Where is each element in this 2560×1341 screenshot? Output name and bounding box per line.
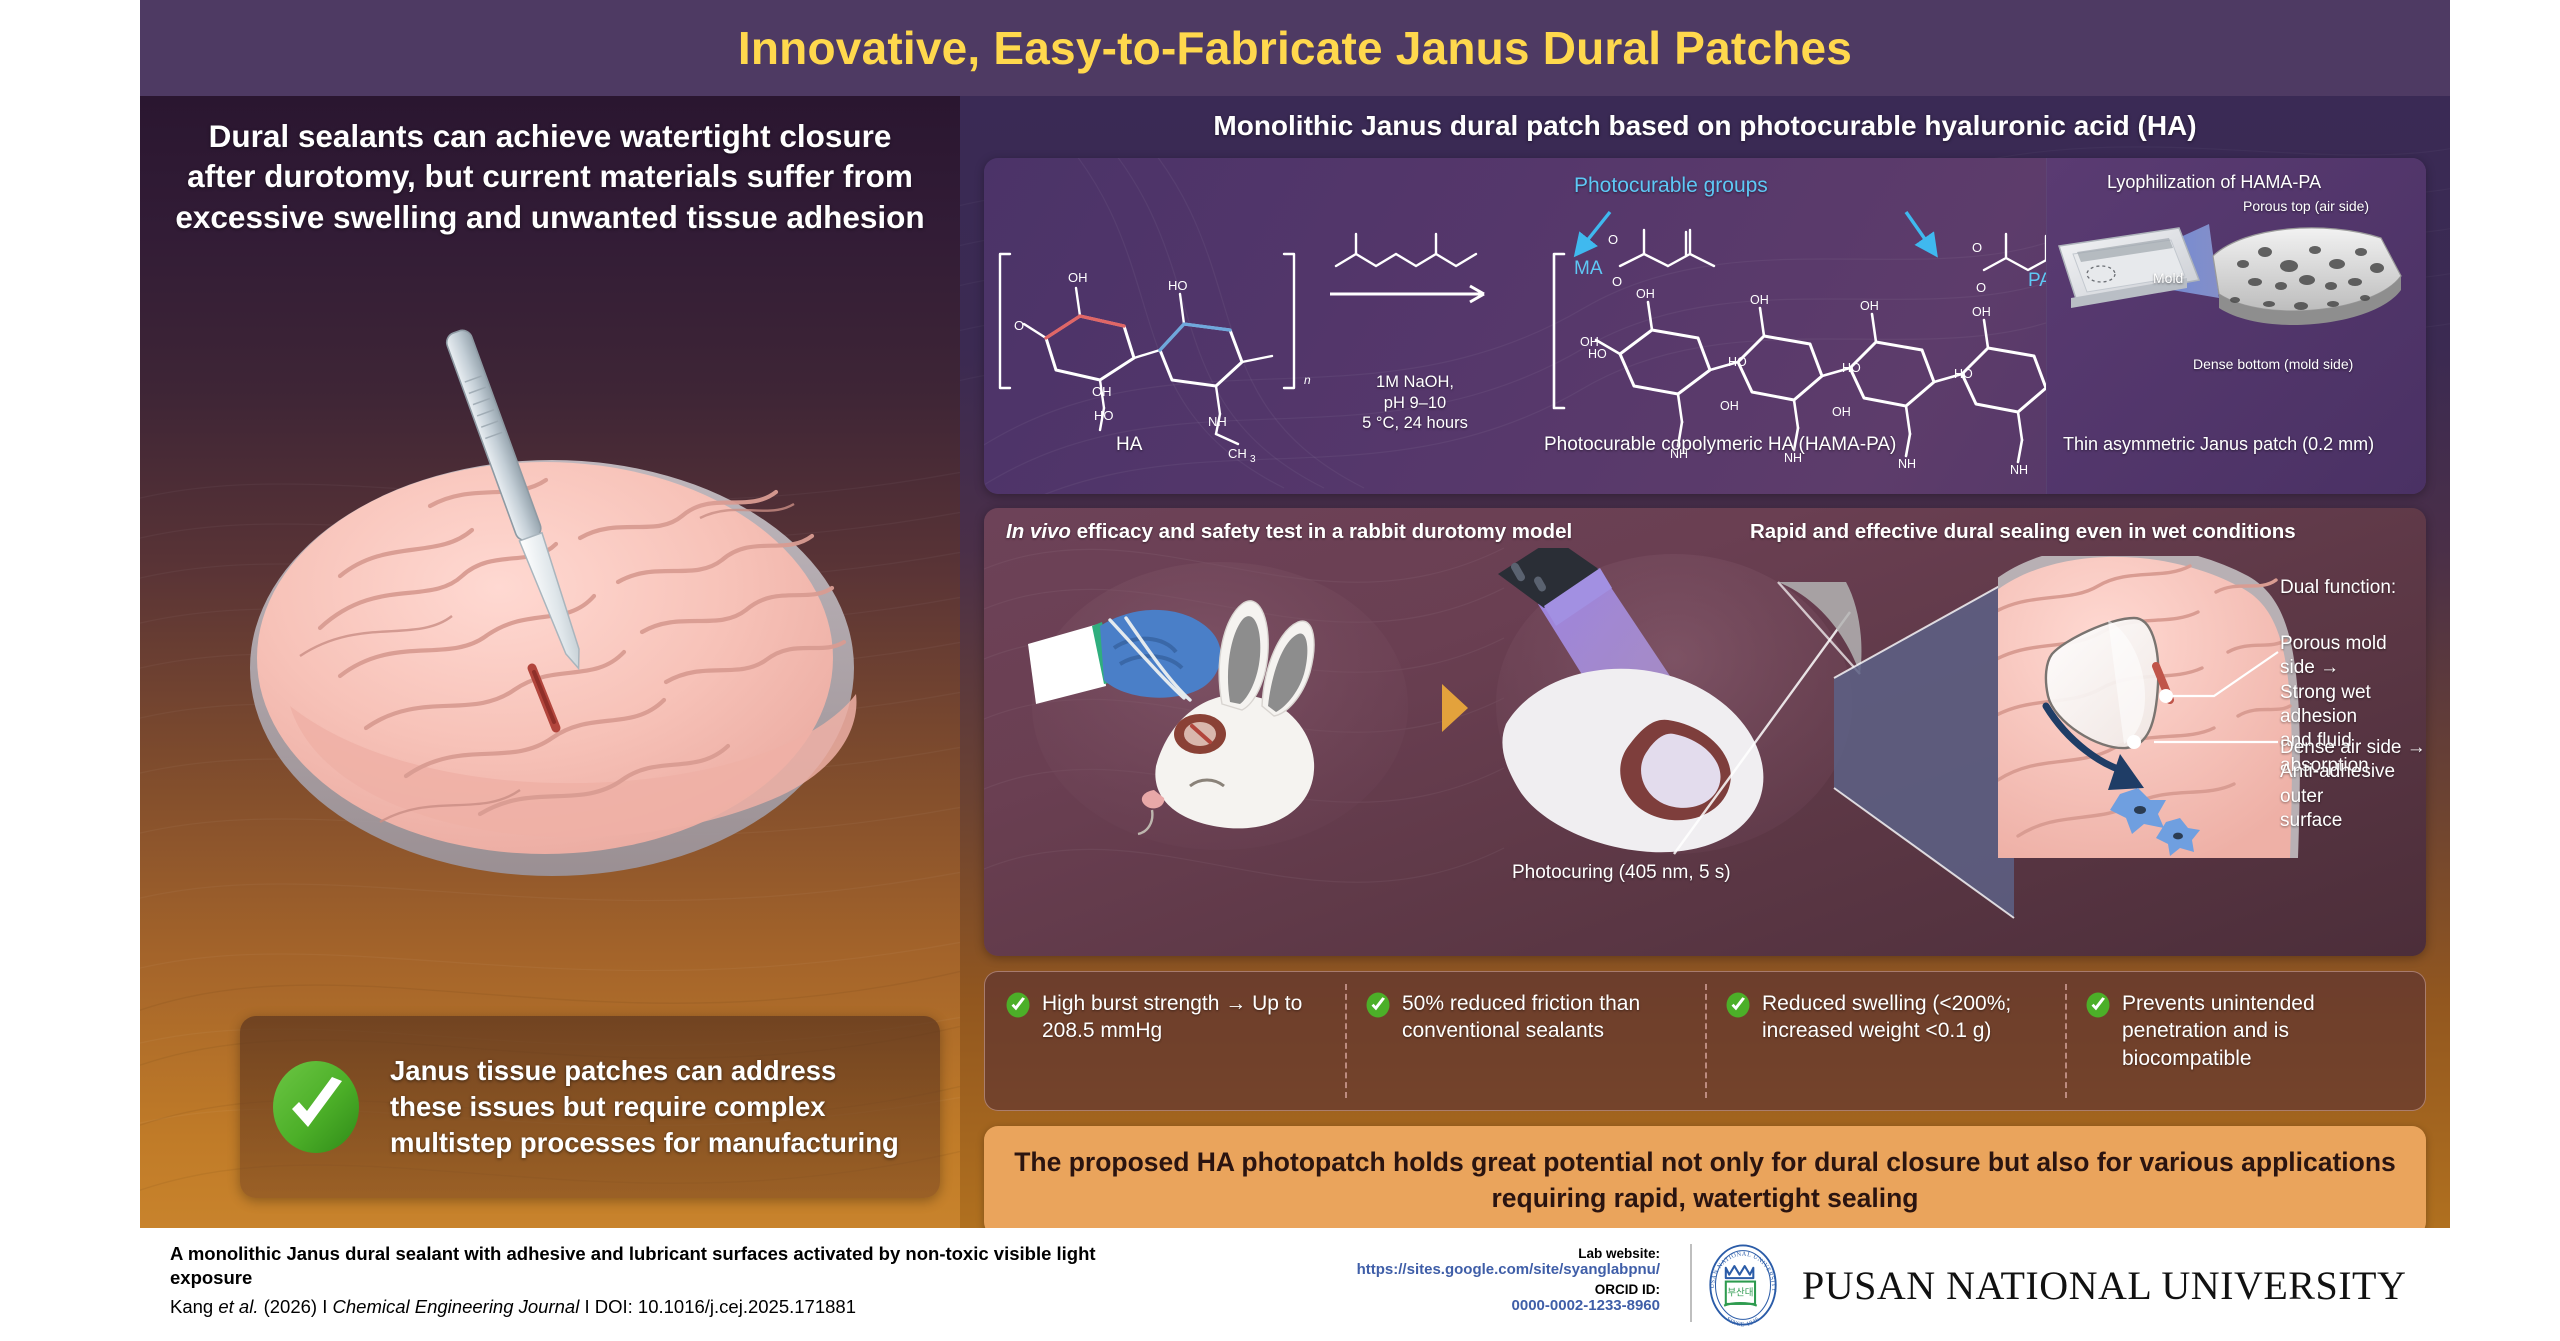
- citation-etal: et al.: [218, 1296, 258, 1317]
- svg-text:OH: OH: [1636, 287, 1655, 301]
- photocuring-caption: Photocuring (405 nm, 5 s): [1512, 862, 1731, 884]
- invivo-italic: In vivo: [1006, 520, 1071, 543]
- invivo-rest: efficacy and safety test in a rabbit dur…: [1071, 520, 1572, 543]
- dual-function-dense: Dense air side → Anti-adhesive outer sur…: [2280, 736, 2426, 833]
- janus-patch-label: Thin asymmetric Janus patch (0.2 mm): [2063, 434, 2374, 455]
- svg-text:O: O: [1608, 232, 1618, 247]
- svg-text:OH: OH: [1720, 399, 1739, 413]
- screenshot-root: Innovative, Easy-to-Fabricate Janus Dura…: [0, 0, 2560, 1341]
- progression-arrow-icon: [1436, 678, 1476, 738]
- svg-text:HO: HO: [1728, 355, 1747, 369]
- footer-links-block: Lab website: https://sites.google.com/si…: [1230, 1246, 1660, 1314]
- orcid-value[interactable]: 0000-0002-1233-8960: [1230, 1297, 1660, 1314]
- svg-text:OH: OH: [1860, 299, 1879, 313]
- lyophilization-subcard: Lyophilization of HAMA-PA: [2046, 158, 2426, 494]
- ma-label: MA: [1574, 258, 1603, 279]
- svg-text:CH: CH: [1228, 446, 1247, 461]
- citation-year: (2026) I: [258, 1296, 332, 1317]
- svg-text:OH: OH: [1832, 405, 1851, 419]
- left-panel-callout: Janus tissue patches can address these i…: [240, 1016, 940, 1198]
- check-circle-icon: [2085, 992, 2111, 1018]
- lab-website-link[interactable]: https://sites.google.com/site/syanglabpn…: [1230, 1261, 1660, 1278]
- zoom-wedge: [1824, 568, 2024, 928]
- rabbit-surgery-illustration: [1014, 556, 1434, 856]
- porous-top-label: Porous top (air side): [2243, 198, 2369, 214]
- footer-divider: [1690, 1244, 1692, 1322]
- svg-text:O: O: [1014, 318, 1024, 333]
- benefit-item: 50% reduced friction than conventional s…: [1345, 972, 1705, 1110]
- svg-text:O: O: [1976, 280, 1986, 295]
- footer: A monolithic Janus dural sealant with ad…: [0, 1228, 2560, 1341]
- svg-text:OH: OH: [1750, 293, 1769, 307]
- ha-label: HA: [1116, 434, 1142, 456]
- dense-bottom-label: Dense bottom (mold side): [2193, 356, 2353, 372]
- mold-label: Mold: [2153, 270, 2183, 286]
- check-circle-icon: [1725, 992, 1751, 1018]
- citation-author: Kang: [170, 1296, 218, 1317]
- lyophilization-title: Lyophilization of HAMA-PA: [2107, 172, 2321, 193]
- paper-citation: Kang et al. (2026) I Chemical Engineerin…: [170, 1296, 1170, 1318]
- right-panel-title: Monolithic Janus dural patch based on ph…: [960, 110, 2450, 142]
- svg-text:OH: OH: [1068, 270, 1088, 285]
- university-name: PUSAN NATIONAL UNIVERSITY: [1802, 1262, 2406, 1309]
- svg-text:O: O: [1972, 240, 1982, 255]
- check-circle-icon: [1005, 992, 1031, 1018]
- check-circle-icon: [1365, 992, 1391, 1018]
- benefits-row: High burst strength → Up to 208.5 mmHg 5…: [985, 972, 2425, 1110]
- paper-title: A monolithic Janus dural sealant with ad…: [170, 1242, 1170, 1290]
- benefit-item: Reduced swelling (<200%; increased weigh…: [1705, 972, 2065, 1110]
- benefit-item: High burst strength → Up to 208.5 mmHg: [985, 972, 1345, 1110]
- conclusion-text: The proposed HA photopatch holds great p…: [984, 1145, 2426, 1217]
- graphical-abstract-poster: Innovative, Easy-to-Fabricate Janus Dura…: [140, 0, 2450, 1228]
- svg-text:HO: HO: [1094, 408, 1114, 423]
- chemistry-card: Photocurable groups: [984, 158, 2426, 494]
- footer-citation-block: A monolithic Janus dural sealant with ad…: [170, 1242, 1170, 1318]
- svg-text:n: n: [1304, 373, 1311, 387]
- hama-pa-product-label: Photocurable copolymeric HA (HAMA-PA): [1544, 434, 1896, 456]
- svg-text:OH: OH: [1092, 384, 1112, 399]
- dual-function-title: Dual function:: [2280, 576, 2396, 600]
- svg-text:HO: HO: [1588, 347, 1607, 361]
- benefit-text: Reduced swelling (<200%; increased weigh…: [1762, 990, 2051, 1045]
- benefit-item: Prevents unintended penetration and is b…: [2065, 972, 2425, 1110]
- svg-text:OH: OH: [1972, 305, 1991, 319]
- lab-website-label: Lab website:: [1230, 1246, 1660, 1261]
- poster-title: Innovative, Easy-to-Fabricate Janus Dura…: [140, 0, 2450, 96]
- photocuring-illustration: [1478, 548, 1878, 868]
- reaction-conditions: 1M NaOH, pH 9–10 5 °C, 24 hours: [1320, 372, 1510, 434]
- brain-with-scalpel-illustration: [180, 276, 920, 896]
- check-circle-icon: [266, 1057, 366, 1157]
- citation-doi: I DOI: 10.1016/j.cej.2025.171881: [579, 1296, 856, 1317]
- svg-text:NH: NH: [1898, 457, 1916, 471]
- svg-text:NH: NH: [2010, 463, 2028, 477]
- benefit-text: High burst strength → Up to 208.5 mmHg: [1042, 990, 1331, 1045]
- orcid-label: ORCID ID:: [1230, 1282, 1660, 1297]
- svg-text:HO: HO: [1842, 361, 1861, 375]
- right-panel: Monolithic Janus dural patch based on ph…: [960, 96, 2450, 1228]
- svg-text:HO: HO: [1954, 367, 1973, 381]
- svg-text:부산대: 부산대: [1727, 1287, 1753, 1298]
- svg-text:3: 3: [1250, 454, 1256, 465]
- invivo-subheader: In vivo efficacy and safety test in a ra…: [1006, 520, 1572, 544]
- citation-journal: Chemical Engineering Journal: [333, 1296, 580, 1317]
- key-benefits-card: High burst strength → Up to 208.5 mmHg 5…: [984, 971, 2426, 1111]
- svg-text:HO: HO: [1168, 278, 1188, 293]
- benefit-text: 50% reduced friction than conventional s…: [1402, 990, 1691, 1045]
- poster-title-bar: Innovative, Easy-to-Fabricate Janus Dura…: [140, 0, 2450, 96]
- conclusion-banner: The proposed HA photopatch holds great p…: [984, 1126, 2426, 1228]
- sealing-subheader: Rapid and effective dural sealing even i…: [1750, 520, 2296, 544]
- svg-text:NH: NH: [1208, 414, 1227, 429]
- mold-and-foam-illustration: [2047, 202, 2426, 402]
- svg-text:O: O: [1612, 274, 1622, 289]
- pusan-national-university-seal-icon: PUSAN NATIONAL UNIVERSITY SINCE 1946 부산대: [1700, 1242, 1786, 1328]
- invivo-and-sealing-card: In vivo efficacy and safety test in a ra…: [984, 508, 2426, 956]
- left-panel-headline: Dural sealants can achieve watertight cl…: [174, 116, 926, 237]
- university-logo-block: PUSAN NATIONAL UNIVERSITY SINCE 1946 부산대…: [1700, 1242, 2406, 1328]
- left-panel: Dural sealants can achieve watertight cl…: [140, 96, 960, 1228]
- left-callout-text: Janus tissue patches can address these i…: [390, 1053, 914, 1162]
- benefit-text: Prevents unintended penetration and is b…: [2122, 990, 2411, 1072]
